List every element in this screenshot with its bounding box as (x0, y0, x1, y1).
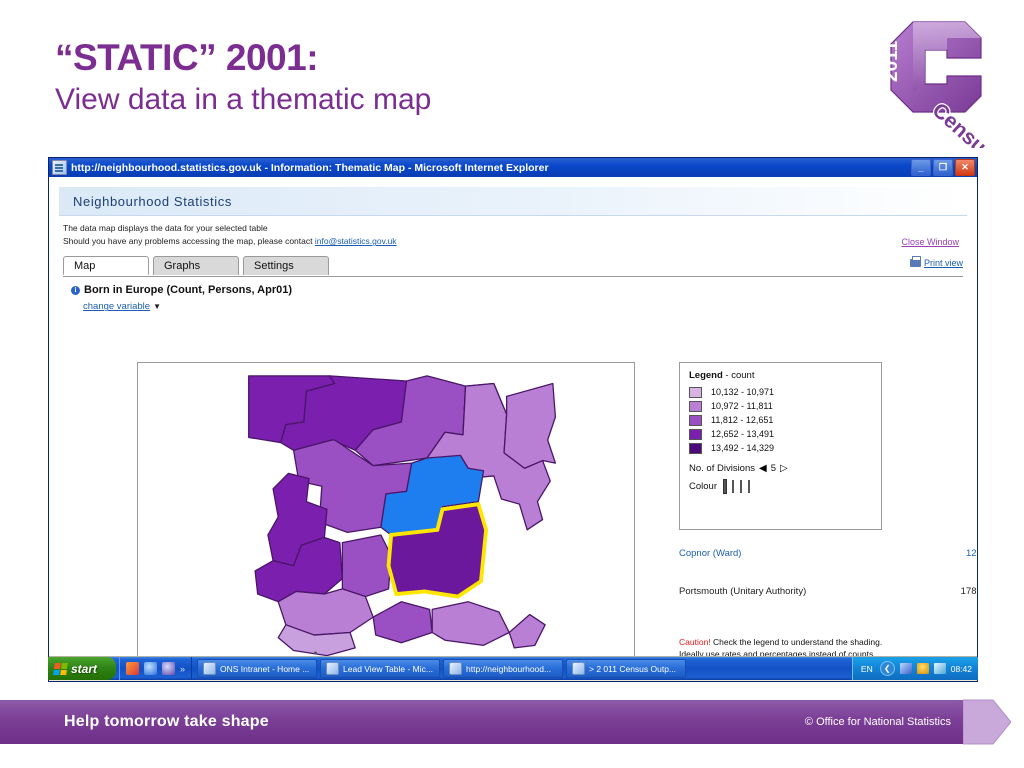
divisions-prev-arrow[interactable]: ◀ (759, 464, 767, 474)
show-desktop-icon[interactable] (126, 662, 139, 675)
minimize-button[interactable]: _ (911, 159, 931, 176)
close-window-link[interactable]: Close Window (901, 236, 959, 250)
site-header-band: Neighbourhood Statistics (59, 187, 967, 216)
census-2011-logo: 2011 Census (861, 8, 1006, 148)
windows-flag-icon (53, 663, 68, 675)
colour-swatch-red[interactable] (740, 480, 742, 493)
variable-title: Born in Europe (Count, Persons, Apr01) (84, 284, 292, 296)
network-icon[interactable] (900, 663, 912, 674)
legend-row: 11,812 - 12,651 (689, 413, 881, 427)
colour-control: Colour (689, 481, 881, 492)
map-region[interactable] (373, 602, 432, 643)
language-indicator[interactable]: EN (861, 664, 873, 674)
map-region[interactable] (509, 615, 545, 648)
legend-row: 10,132 - 10,971 (689, 385, 881, 399)
change-variable-link[interactable]: change variable▼ (83, 301, 161, 312)
start-label: start (71, 662, 97, 676)
printer-icon (910, 259, 921, 267)
legend-row: 10,972 - 11,811 (689, 399, 881, 413)
taskbar-button-label: Lead View Table - Mic... (343, 664, 433, 674)
site-title: Neighbourhood Statistics (59, 194, 232, 209)
slide-footer: Help tomorrow take shape © Office for Na… (0, 700, 1024, 744)
footer-fold-decoration (963, 690, 1011, 754)
page-body: Neighbourhood Statistics The data map di… (49, 177, 977, 656)
variable-title-row: i Born in Europe (Count, Persons, Apr01) (71, 284, 963, 296)
map-region[interactable] (504, 384, 555, 469)
media-player-icon[interactable] (162, 662, 175, 675)
colour-label: Colour (689, 481, 717, 492)
slide-title-block: “STATIC” 2001: View data in a thematic m… (55, 38, 755, 118)
map-svg[interactable] (138, 363, 634, 656)
intro-text-block: The data map displays the data for your … (63, 222, 963, 248)
map-and-panel: Show background map Legend - count 10,13… (63, 362, 963, 652)
map-region[interactable] (342, 535, 391, 597)
page-subtitle: View data in a thematic map (55, 82, 755, 118)
variable-header: i Born in Europe (Count, Persons, Apr01)… (71, 284, 963, 314)
value-label: Portsmouth (Unitary Authority) (679, 586, 806, 597)
colour-swatch-purple[interactable] (724, 480, 726, 493)
value-number: 178,236 (961, 586, 977, 597)
taskbar-button[interactable]: > 2 011 Census Outp... (566, 659, 686, 678)
quick-launch-bar: » (119, 657, 192, 680)
legend-title-label: Legend (689, 370, 723, 381)
tab-map[interactable]: Map (63, 256, 149, 275)
divisions-control: No. of Divisions ◀ 5 ▷ (689, 463, 881, 474)
legend-swatch (689, 387, 702, 398)
tab-bar: Map Graphs Settings Print view (63, 256, 963, 277)
info-icon[interactable]: i (71, 286, 80, 295)
legend-panel: Legend - count 10,132 - 10,97110,972 - 1… (679, 362, 882, 530)
footer-copyright: © Office for National Statistics (805, 716, 951, 728)
value-number: 12,891 (966, 548, 977, 559)
legend-subtitle: - count (723, 370, 755, 381)
ie-document-icon (52, 160, 67, 175)
footer-bar: Help tomorrow take shape © Office for Na… (0, 700, 975, 744)
legend-range-label: 10,132 - 10,971 (711, 387, 774, 397)
close-button[interactable]: ✕ (955, 159, 975, 176)
caution-block: Caution! Check the legend to understand … (679, 636, 977, 656)
legend-range-label: 13,492 - 14,329 (711, 443, 774, 453)
legend-range-label: 12,652 - 13,491 (711, 429, 774, 439)
taskbar-button-icon (326, 662, 339, 675)
value-row: Portsmouth (Unitary Authority)178,236 (679, 586, 977, 597)
chevron-down-icon: ▼ (153, 302, 161, 311)
taskbar-button[interactable]: http://neighbourhood... (443, 659, 563, 678)
legend-title-row: Legend - count (689, 370, 881, 381)
intro-line-2-text: Should you have any problems accessing t… (63, 236, 315, 246)
legend-row: 12,652 - 13,491 (689, 427, 881, 441)
map-dot (314, 651, 317, 654)
caution-text-1: Check the legend to understand the shadi… (711, 637, 883, 647)
taskbar-button-label: http://neighbourhood... (466, 664, 551, 674)
taskbar-button[interactable]: ONS Intranet - Home ... (197, 659, 317, 678)
caution-line-2: Ideally use rates and percentages instea… (679, 648, 977, 656)
intro-line-1: The data map displays the data for your … (63, 222, 963, 235)
taskbar-button-label: > 2 011 Census Outp... (589, 664, 676, 674)
value-label: Copnor (Ward) (679, 548, 741, 559)
taskbar-button[interactable]: Lead View Table - Mic... (320, 659, 440, 678)
legend-class-list: 10,132 - 10,97110,972 - 11,81111,812 - 1… (689, 385, 881, 455)
legend-swatch (689, 443, 702, 454)
thematic-map-canvas[interactable] (137, 362, 635, 656)
tray-expand-icon[interactable]: ❮ (880, 661, 895, 676)
divisions-next-arrow[interactable]: ▷ (780, 464, 788, 474)
legend-range-label: 10,972 - 11,811 (711, 401, 773, 411)
legend-range-label: 11,812 - 12,651 (711, 415, 773, 425)
restore-button[interactable]: ❐ (933, 159, 953, 176)
window-controls: _ ❐ ✕ (911, 159, 975, 176)
tab-settings[interactable]: Settings (243, 256, 329, 275)
browser-titlebar: http://neighbourhood.statistics.gov.uk -… (49, 158, 977, 177)
intro-line-2: Should you have any problems accessing t… (63, 235, 963, 248)
value-row: Copnor (Ward)12,891 (679, 548, 977, 559)
legend-swatch (689, 401, 702, 412)
print-view-link[interactable]: Print view (910, 258, 963, 268)
start-button[interactable]: start (48, 657, 116, 680)
divisions-value: 5 (771, 463, 776, 474)
footer-tagline: Help tomorrow take shape (64, 713, 269, 731)
caution-word: Caution! (679, 637, 711, 647)
legend-swatch (689, 429, 702, 440)
browser-window: http://neighbourhood.statistics.gov.uk -… (48, 157, 978, 682)
caution-line-1: Caution! Check the legend to understand … (679, 636, 977, 648)
print-view-label: Print view (924, 258, 963, 268)
map-region[interactable] (432, 602, 509, 646)
page-title: “STATIC” 2001: (55, 38, 755, 78)
taskbar-button-icon (203, 662, 216, 675)
clock[interactable]: 08:42 (951, 664, 972, 674)
contact-email-link[interactable]: info@statistics.gov.uk (315, 236, 397, 246)
taskbar-window-list: ONS Intranet - Home ...Lead View Table -… (192, 659, 852, 678)
change-variable-label: change variable (83, 301, 150, 312)
colour-swatch-green[interactable] (732, 480, 734, 493)
internet-explorer-icon[interactable] (144, 662, 157, 675)
window-title: http://neighbourhood.statistics.gov.uk -… (71, 162, 549, 174)
taskbar-button-label: ONS Intranet - Home ... (220, 664, 309, 674)
taskbar-button-icon (449, 662, 462, 675)
quick-launch-overflow-icon[interactable]: » (180, 664, 185, 674)
tab-graphs[interactable]: Graphs (153, 256, 239, 275)
legend-row: 13,492 - 14,329 (689, 441, 881, 455)
windows-taskbar: start » ONS Intranet - Home ...Lead View… (48, 657, 978, 680)
colour-swatch-list (724, 481, 756, 492)
update-icon[interactable] (917, 663, 929, 674)
divisions-label: No. of Divisions (689, 463, 755, 474)
taskbar-button-icon (572, 662, 585, 675)
value-readout-list: Copnor (Ward)12,891Portsmouth (Unitary A… (679, 548, 977, 624)
mail-icon[interactable] (934, 663, 946, 674)
system-tray: EN ❮ 08:42 (852, 657, 978, 680)
svg-text:2011: 2011 (881, 40, 902, 82)
colour-swatch-grey[interactable] (748, 480, 750, 493)
legend-swatch (689, 415, 702, 426)
